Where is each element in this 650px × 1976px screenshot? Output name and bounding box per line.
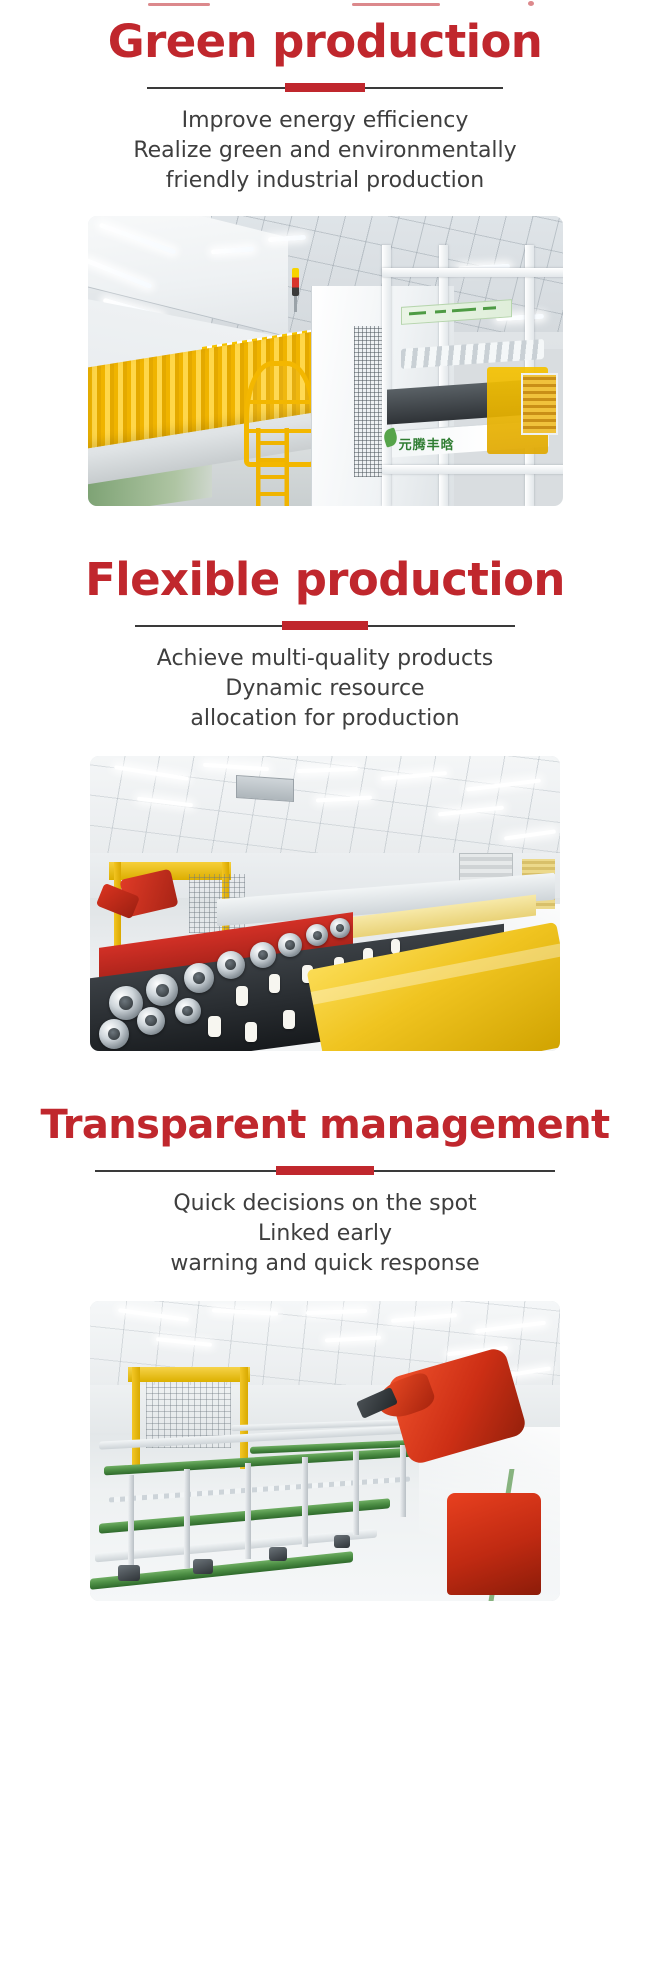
flexible-conveyor-line-photo — [90, 756, 560, 1051]
subtitle-line: friendly industrial production — [0, 166, 650, 196]
title-divider — [135, 620, 515, 632]
section-title: Transparent management — [0, 1097, 650, 1153]
section-subtitle: Achieve multi-quality products Dynamic r… — [0, 644, 650, 734]
factory-oven-line-photo: 元腾丰晗 — [88, 216, 563, 506]
robot-base — [447, 1493, 541, 1595]
subtitle-line: Linked early — [0, 1219, 650, 1249]
robot-arm-conveyor-photo — [90, 1301, 560, 1601]
title-divider — [95, 1165, 555, 1177]
subtitle-line: Quick decisions on the spot — [0, 1189, 650, 1219]
divider-accent — [276, 1166, 374, 1175]
subtitle-line: Improve energy efficiency — [0, 106, 650, 136]
section-title: Flexible production — [0, 552, 650, 608]
section-flexible-production: Flexible production Achieve multi-qualit… — [0, 506, 650, 1051]
subtitle-line: warning and quick response — [0, 1249, 650, 1279]
subtitle-line: Realize green and environmentally — [0, 136, 650, 166]
divider-accent — [285, 83, 365, 92]
section-title: Green production — [0, 14, 650, 70]
divider-accent — [282, 621, 368, 630]
signal-tower-icon — [292, 268, 299, 296]
subtitle-line: allocation for production — [0, 704, 650, 734]
section-transparent-management: Transparent management Quick decisions o… — [0, 1051, 650, 1601]
subtitle-line: Achieve multi-quality products — [0, 644, 650, 674]
section-subtitle: Improve energy efficiency Realize green … — [0, 106, 650, 196]
ladder — [256, 428, 289, 506]
overlay-brand-text: 元腾丰晗 — [399, 434, 455, 453]
title-divider — [147, 82, 503, 94]
section-subtitle: Quick decisions on the spot Linked early… — [0, 1189, 650, 1279]
section-green-production: Green production Improve energy efficien… — [0, 0, 650, 506]
subtitle-line: Dynamic resource — [0, 674, 650, 704]
ceiling-vent — [236, 775, 294, 802]
page-root: Green production Improve energy efficien… — [0, 0, 650, 1976]
